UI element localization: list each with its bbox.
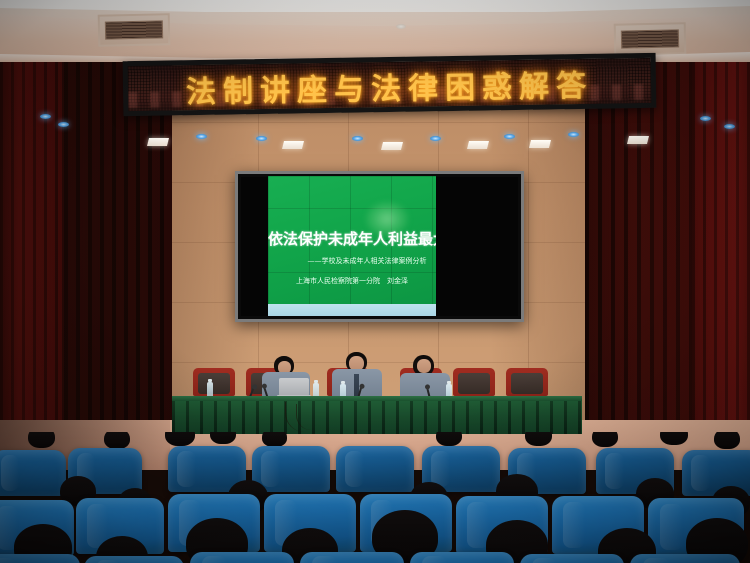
bottle-cap [208, 379, 212, 382]
blue-downlight [352, 136, 363, 141]
blue-downlight [504, 134, 515, 139]
audience-seat [300, 552, 404, 563]
panel-table [172, 396, 582, 434]
ceiling-strip-light [282, 141, 304, 149]
ceiling-strip-light [627, 136, 649, 144]
chair-pad [458, 373, 490, 394]
audience-head [165, 432, 195, 446]
blue-downlight [700, 116, 711, 121]
audience-head [436, 432, 462, 446]
slide-title: 依法保护未成年人利益最大化 [268, 228, 436, 249]
audience-seat [336, 446, 414, 492]
blue-downlight [256, 136, 267, 141]
bottle-cap [314, 380, 318, 383]
audience-head [525, 432, 552, 446]
audience-seat [252, 446, 330, 492]
ac-vent-grille [621, 29, 679, 48]
laptop-screen-lid [279, 378, 309, 396]
slide-author-line: 上海市人民检察院第一分院 刘金泽 [268, 276, 436, 286]
audience-head [262, 432, 287, 447]
blue-downlight [430, 136, 441, 141]
blue-downlight [724, 124, 735, 129]
audience-seat [0, 450, 66, 496]
ac-vent-right [614, 22, 687, 56]
audience-head [210, 432, 236, 444]
chair-pad [511, 373, 543, 394]
audience-head [592, 432, 618, 447]
slide-subtitle: ——学校及未成年人相关法律案例分析 [268, 256, 436, 266]
blue-downlight [196, 134, 207, 139]
audience-seating [0, 432, 750, 563]
ceiling-strip-light [147, 138, 169, 146]
audience-seat [410, 552, 514, 563]
audience-head [714, 432, 740, 449]
blue-downlight [40, 114, 51, 119]
blue-downlight [568, 132, 579, 137]
chair-pad [198, 373, 230, 394]
audience-seat [520, 554, 624, 563]
ceiling-strip-light [529, 140, 551, 148]
projection-screen: 依法保护未成年人利益最大化 ——学校及未成年人相关法律案例分析 上海市人民检察院… [235, 171, 524, 322]
ceiling-strip-light [381, 142, 403, 150]
blue-downlight [58, 122, 69, 127]
audience-head [104, 432, 130, 449]
audience-seat [630, 554, 740, 563]
led-banner-text: 法制讲座与法律困惑解答 [128, 60, 652, 112]
bottle-cap [341, 381, 345, 384]
bottle-cap [447, 381, 451, 384]
speaker-face [417, 359, 431, 373]
ceiling-strip-light [467, 141, 489, 149]
ceiling-fixture-dot [396, 24, 406, 29]
audience-seat [190, 552, 294, 563]
panel-table-skirt [172, 401, 582, 434]
ac-vent-left [98, 13, 171, 47]
slide-taskbar-strip [268, 304, 436, 316]
audience-head [660, 432, 688, 445]
ac-vent-grille [105, 20, 163, 39]
presentation-slide: 依法保护未成年人利益最大化 ——学校及未成年人相关法律案例分析 上海市人民检察院… [268, 176, 436, 316]
audience-head [28, 432, 55, 448]
audience-seat [0, 554, 80, 563]
audience-seat [84, 556, 184, 563]
auditorium-scene: 法制讲座与法律困惑解答 依法保护未成年人利益最大化 ——学校及未成年人相关法律案… [0, 0, 750, 563]
led-banner-display: 法制讲座与法律困惑解答 [123, 53, 657, 116]
